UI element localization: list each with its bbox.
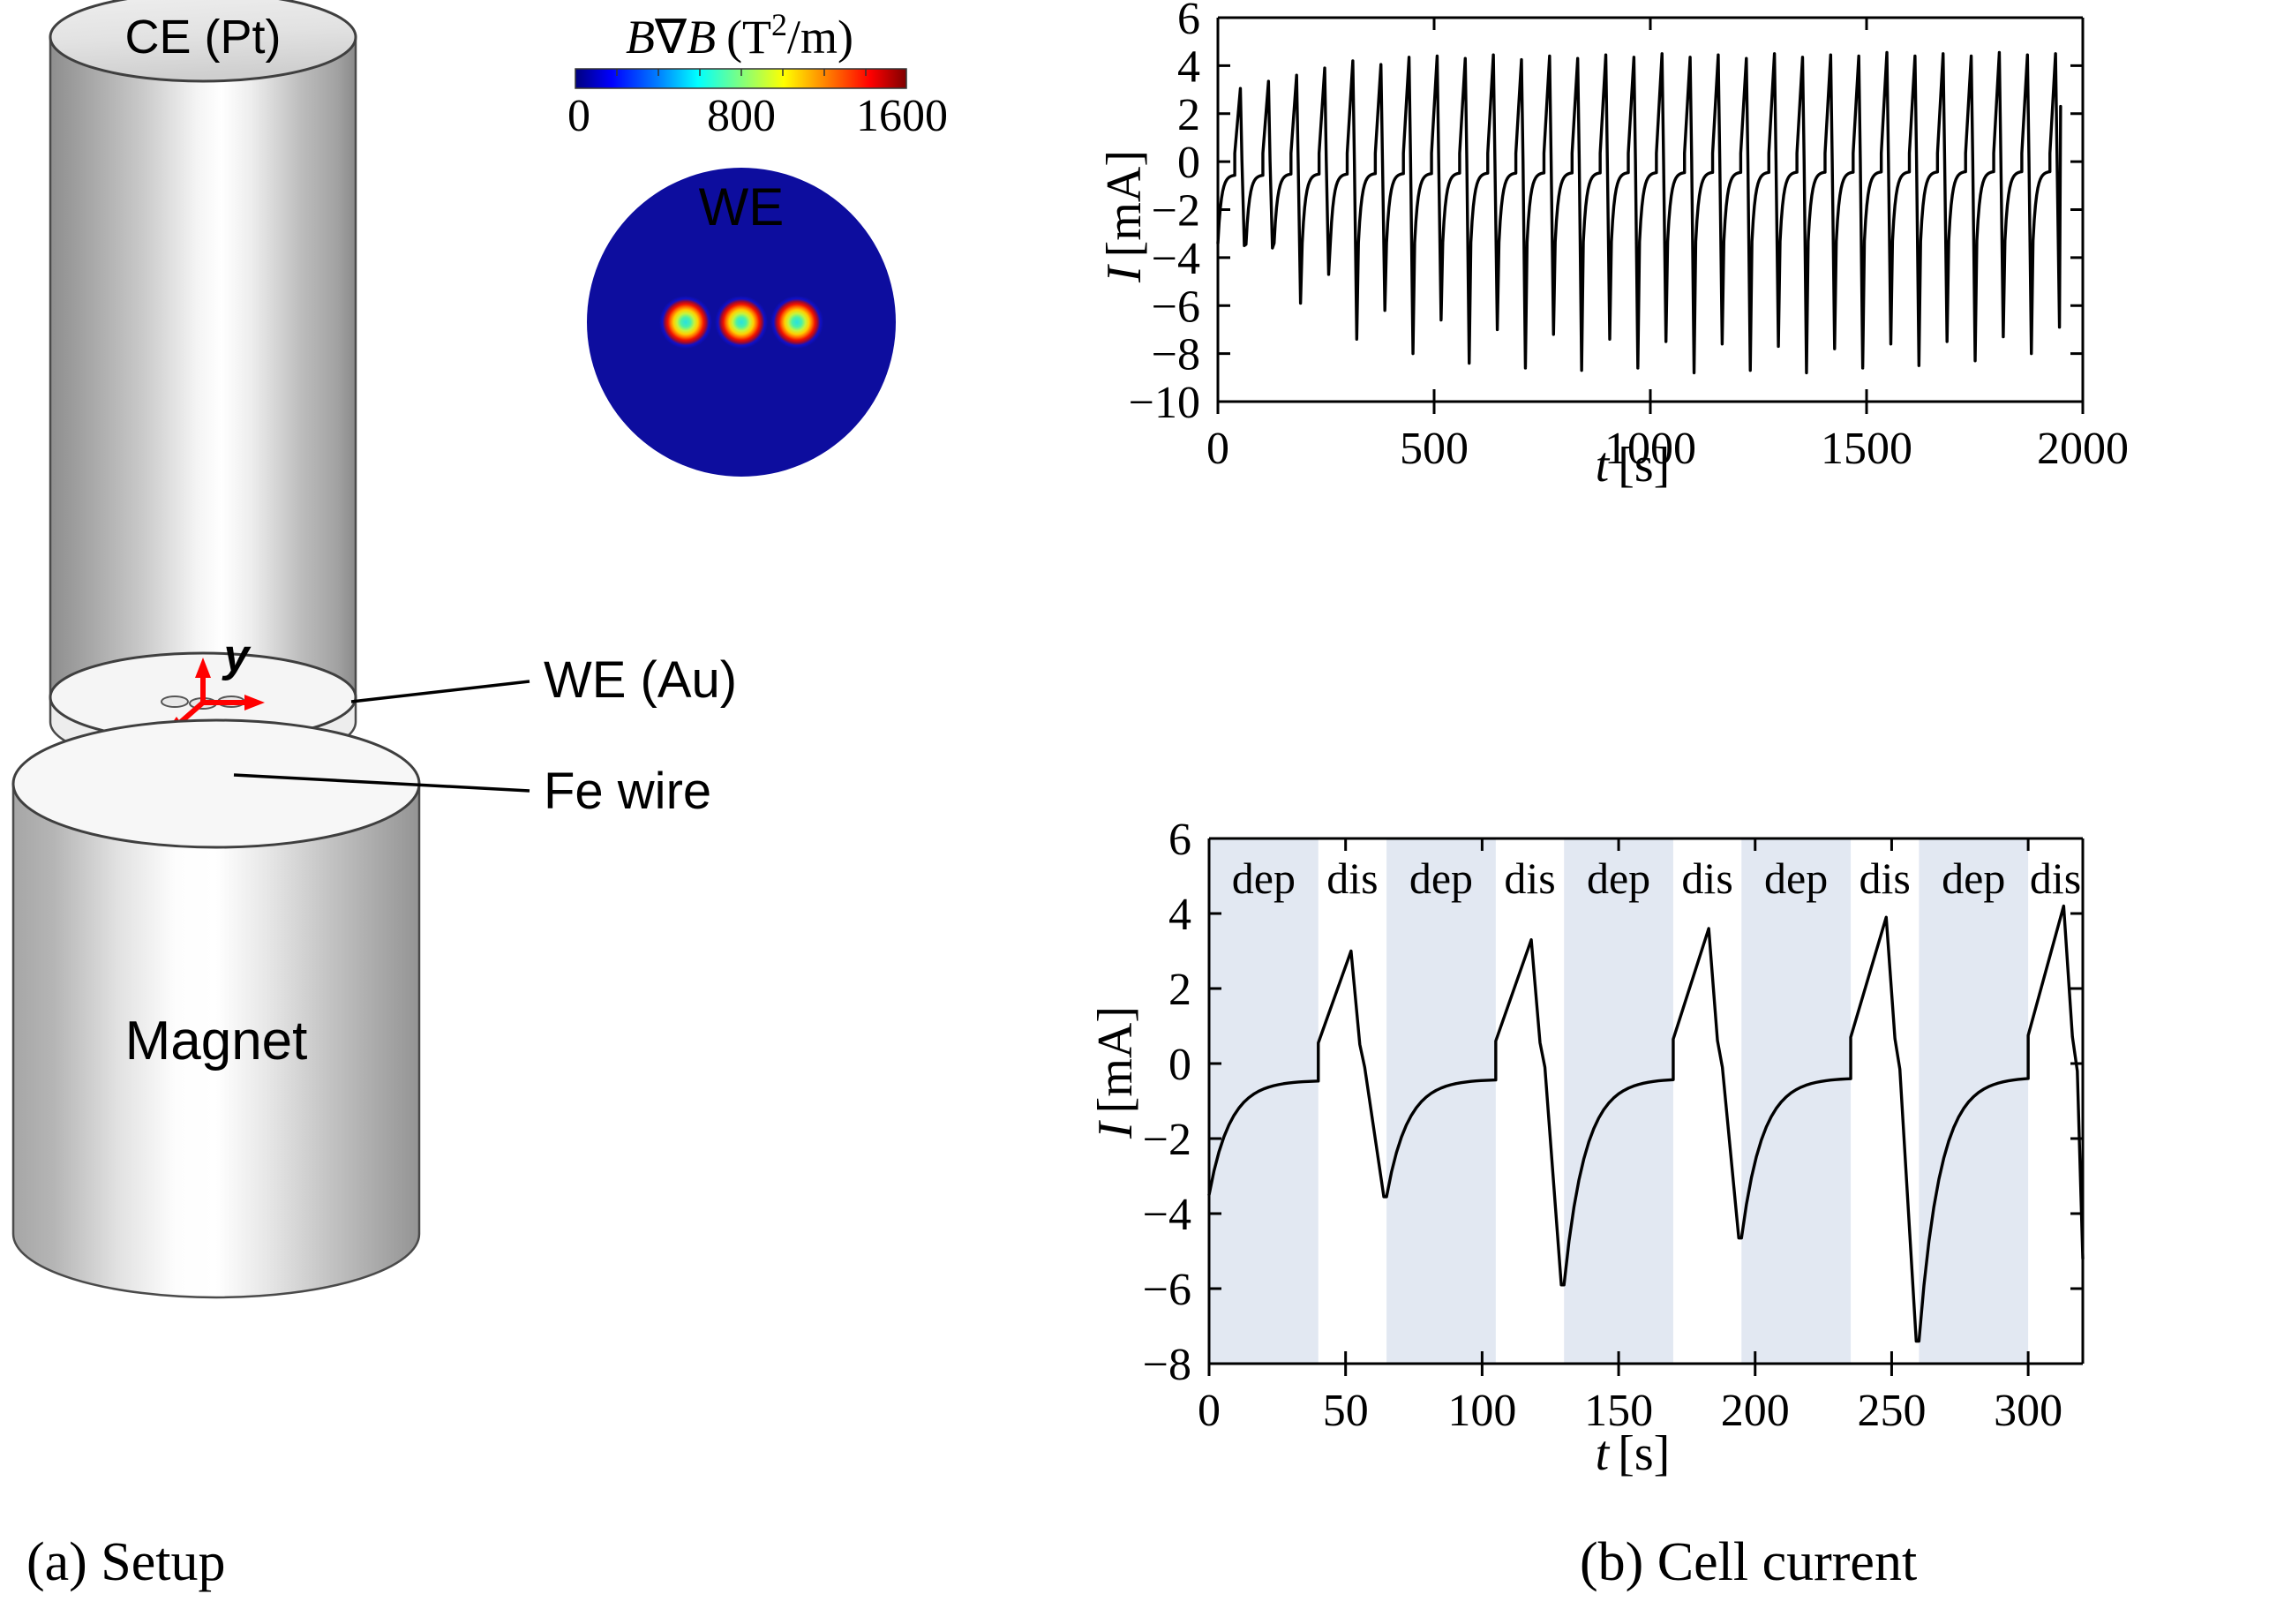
band-label-dep: dep (1409, 853, 1473, 903)
colorbar-unit-open: (T (726, 11, 771, 64)
y-tick-label: −2 (1143, 1115, 1191, 1165)
top-chart-trace (1218, 52, 2061, 372)
band-label-dep: dep (1764, 853, 1828, 903)
caption-setup: (a) Setup (26, 1531, 226, 1594)
x-tick-label: 300 (1994, 1386, 2062, 1436)
x-tick-label: 100 (1447, 1386, 1516, 1436)
we-au-label: WE (Au) (544, 651, 737, 709)
y-tick-label: 2 (1177, 90, 1200, 140)
y-tick-label: 0 (1168, 1040, 1191, 1090)
fe-wire-label: Fe wire (544, 763, 711, 820)
y-tick-label: 4 (1177, 41, 1200, 92)
y-tick-label: −2 (1152, 186, 1200, 237)
we-hotspot-3 (770, 296, 823, 349)
deposition-band (1386, 838, 1496, 1364)
ce-cylinder-body (50, 37, 356, 741)
band-label-dis: dis (1860, 853, 1911, 903)
colorbar-group: B∇B(T2/m) 0 800 1600 (567, 7, 948, 141)
top-chart-xlabel: t[s] (1596, 438, 1671, 492)
figure-root: CE (Pt) x (0, 0, 2269, 1624)
cell-current-charts: 6420−2−4−6−8−100500100015002000 I[mA] t[… (1086, 0, 2269, 1500)
x-tick-label: 50 (1323, 1386, 1369, 1436)
band-label-dis: dis (2030, 853, 2081, 903)
magnet-cylinder: Magnet (13, 720, 419, 1297)
band-label-dis: dis (1504, 853, 1555, 903)
deposition-band (1919, 838, 2028, 1364)
colorbar-tick-1600: 1600 (856, 91, 948, 141)
band-label-dis: dis (1326, 853, 1378, 903)
band-label-dep: dep (1942, 853, 2005, 903)
magnet-label: Magnet (125, 1011, 308, 1071)
x-tick-label: 250 (1857, 1386, 1926, 1436)
x-tick-label: 0 (1198, 1386, 1221, 1436)
y-tick-label: −6 (1143, 1265, 1191, 1315)
ce-cylinder: CE (Pt) (50, 0, 356, 741)
y-tick-label: 0 (1177, 138, 1200, 188)
y-tick-label: 6 (1168, 815, 1191, 865)
we-field-map: WE (587, 168, 896, 477)
colorbar-title-b1: B (626, 11, 655, 64)
setup-drawing: CE (Pt) x (0, 0, 1086, 1500)
deposition-band (1564, 838, 1673, 1364)
bottom-chart-ylabel: I[mA] (1088, 1006, 1143, 1139)
x-tick-label: 500 (1400, 424, 1469, 474)
axis-y-label: y (222, 630, 252, 681)
x-tick-label: 0 (1206, 424, 1229, 474)
top-chart-ylabel: I[mA] (1097, 150, 1152, 283)
y-tick-label: −6 (1152, 282, 1200, 332)
y-tick-label: −8 (1152, 330, 1200, 380)
colorbar-title: B∇B(T2/m) (626, 7, 853, 64)
ce-label: CE (Pt) (124, 11, 281, 64)
we-hotspot-1 (659, 296, 712, 349)
x-tick-label: 200 (1721, 1386, 1790, 1436)
colorbar-unit-close: /m) (787, 11, 853, 64)
bottom-chart-xlabel: t[s] (1596, 1426, 1671, 1481)
magnet-cylinder-top (13, 720, 419, 847)
fe-wire-section-1 (162, 696, 188, 707)
axis-frame (1218, 18, 2083, 402)
y-tick-label: −8 (1143, 1340, 1191, 1390)
chart-top: 6420−2−4−6−8−100500100015002000 I[mA] t[… (1097, 0, 2129, 492)
colorbar-unit-sup: 2 (771, 7, 787, 42)
y-tick-label: 6 (1177, 0, 1200, 44)
y-tick-label: −4 (1143, 1190, 1191, 1240)
band-label-dis: dis (1681, 853, 1732, 903)
band-label-dep: dep (1232, 853, 1296, 903)
we-field-label: WE (699, 177, 785, 237)
caption-cell-current: (b) Cell current (1580, 1531, 1917, 1594)
colorbar-title-b2: B (687, 11, 716, 64)
x-tick-label: 2000 (2037, 424, 2129, 474)
band-label-dep: dep (1587, 853, 1650, 903)
setup-panel: CE (Pt) x (0, 0, 1086, 1500)
y-tick-label: 2 (1168, 965, 1191, 1015)
we-leader-line (351, 681, 530, 702)
deposition-band (1741, 838, 1851, 1364)
nabla-icon: ∇ (654, 11, 687, 64)
deposition-band (1209, 838, 1319, 1364)
y-tick-label: −10 (1129, 378, 1200, 428)
colorbar-tick-800: 800 (707, 91, 776, 141)
chart-bottom: 6420−2−4−6−8050100150200250300 depdisdep… (1088, 815, 2083, 1481)
cell-current-panel: 6420−2−4−6−8−100500100015002000 I[mA] t[… (1086, 0, 2269, 1500)
y-tick-label: 4 (1168, 890, 1191, 940)
we-hotspot-2 (715, 296, 768, 349)
x-tick-label: 1500 (1821, 424, 1912, 474)
y-tick-label: −4 (1152, 234, 1200, 284)
colorbar-tick-0: 0 (567, 91, 590, 141)
